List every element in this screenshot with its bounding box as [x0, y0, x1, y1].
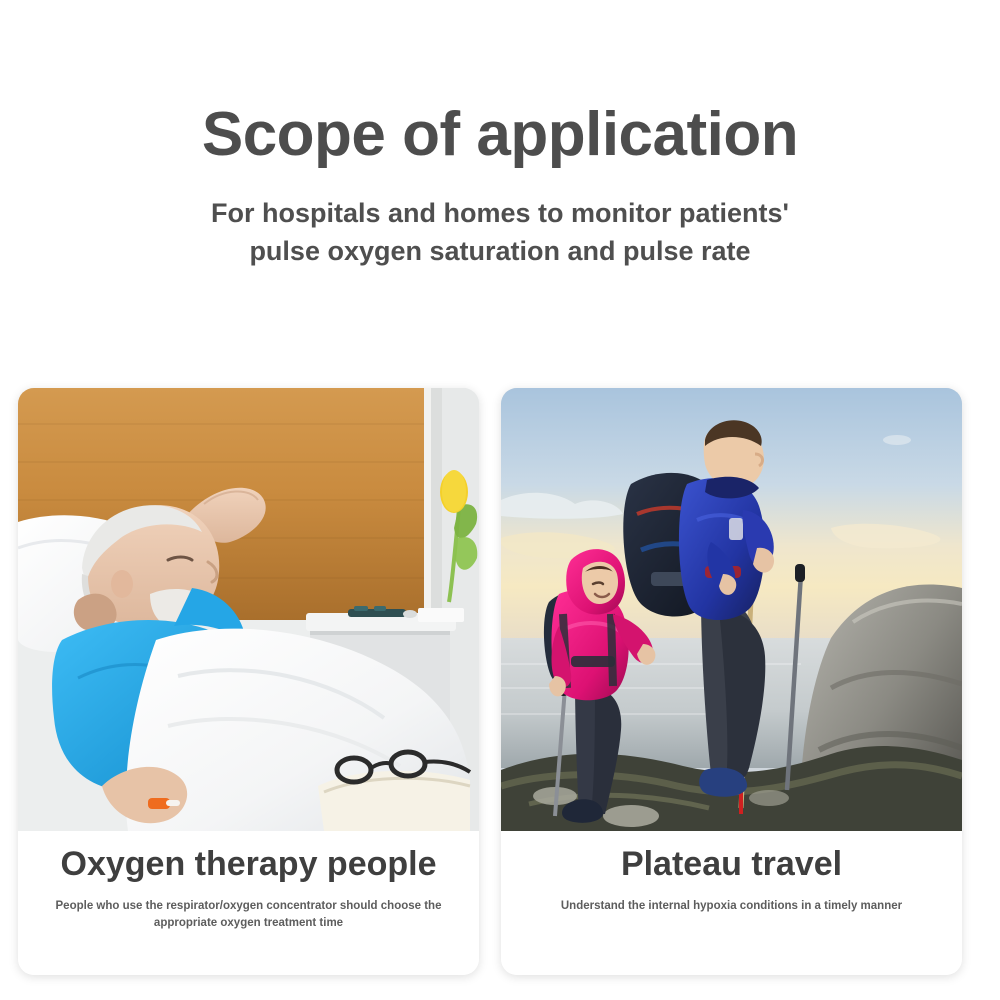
mountain-hikers-illustration: [501, 388, 962, 831]
card-oxygen-therapy-people[interactable]: Oxygen therapy people People who use the…: [18, 388, 479, 975]
page-subtitle: For hospitals and homes to monitor patie…: [180, 194, 820, 271]
application-card-list: Oxygen therapy people People who use the…: [18, 388, 982, 975]
page-header: Scope of application For hospitals and h…: [0, 0, 1000, 271]
card-description: Understand the internal hypoxia conditio…: [522, 898, 942, 915]
card-description: People who use the respirator/oxygen con…: [34, 898, 464, 931]
card-caption-oxygen-therapy: Oxygen therapy people People who use the…: [18, 831, 479, 975]
page-title: Scope of application: [0, 104, 1000, 166]
card-caption-plateau-travel: Plateau travel Understand the internal h…: [501, 831, 962, 975]
hospital-bed-illustration: [18, 388, 479, 831]
scope-of-application-page: Scope of application For hospitals and h…: [0, 0, 1000, 1000]
card-heading: Plateau travel: [511, 845, 952, 884]
hospital-bed-photo: [18, 388, 479, 831]
card-plateau-travel[interactable]: Plateau travel Understand the internal h…: [501, 388, 962, 975]
mountain-hikers-photo: [501, 388, 962, 831]
card-heading: Oxygen therapy people: [28, 845, 469, 884]
